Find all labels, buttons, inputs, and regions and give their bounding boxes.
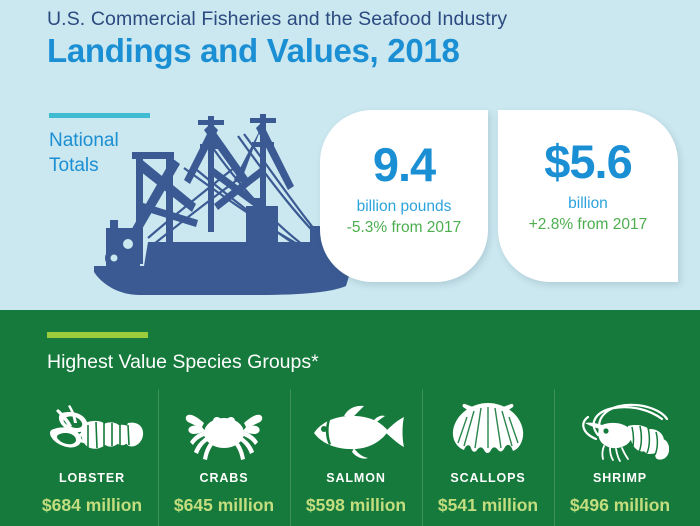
headline-block: U.S. Commercial Fisheries and the Seafoo…: [47, 8, 667, 70]
page-title: Landings and Values, 2018: [47, 32, 667, 70]
species-name-shrimp: SHRIMP: [593, 471, 647, 485]
species-name-scallops: SCALLOPS: [450, 471, 525, 485]
infographic-root: U.S. Commercial Fisheries and the Seafoo…: [0, 0, 700, 526]
stat-landings-unit: billion pounds: [320, 197, 488, 216]
national-totals-label-line2: Totals: [49, 153, 159, 178]
national-totals-label: National Totals: [49, 128, 159, 178]
stat-value-change: +2.8% from 2017: [498, 215, 678, 234]
stat-card-value: $5.6 billion +2.8% from 2017: [498, 110, 678, 282]
lime-rule-divider: [47, 332, 148, 338]
stat-value-amount: $5.6: [498, 138, 678, 185]
species-value-scallops: $541 million: [438, 495, 538, 516]
species-value-shrimp: $496 million: [570, 495, 670, 516]
stat-landings-value: 9.4: [320, 141, 488, 188]
species-list: LOBSTER $684 million: [26, 395, 686, 526]
species-value-salmon: $598 million: [306, 495, 406, 516]
salmon-icon: [302, 399, 410, 465]
shrimp-icon: [566, 399, 674, 465]
species-item-salmon: SALMON $598 million: [290, 395, 422, 526]
stat-cards: 9.4 billion pounds -5.3% from 2017 $5.6 …: [320, 110, 678, 282]
national-totals-label-line1: National: [49, 128, 159, 153]
teal-rule-divider: [49, 113, 150, 118]
stat-value-unit: billion: [498, 194, 678, 213]
lobster-icon: [38, 399, 146, 465]
species-item-shrimp: SHRIMP $496 million: [554, 395, 686, 526]
species-section-heading: Highest Value Species Groups*: [47, 351, 319, 374]
scallop-icon: [434, 399, 542, 465]
species-item-crabs: CRABS $645 million: [158, 395, 290, 526]
highest-value-species-section: Highest Value Species Groups*: [0, 310, 700, 526]
species-name-salmon: SALMON: [326, 471, 386, 485]
species-value-crabs: $645 million: [174, 495, 274, 516]
national-totals-label-block: National Totals: [49, 113, 159, 178]
species-name-lobster: LOBSTER: [59, 471, 125, 485]
species-item-scallops: SCALLOPS $541 million: [422, 395, 554, 526]
stat-card-landings: 9.4 billion pounds -5.3% from 2017: [320, 110, 488, 282]
species-item-lobster: LOBSTER $684 million: [26, 395, 158, 526]
species-name-crabs: CRABS: [200, 471, 249, 485]
species-value-lobster: $684 million: [42, 495, 142, 516]
page-subtitle: U.S. Commercial Fisheries and the Seafoo…: [47, 8, 667, 30]
crab-icon: [170, 399, 278, 465]
national-totals-section: U.S. Commercial Fisheries and the Seafoo…: [0, 0, 700, 310]
stat-landings-change: -5.3% from 2017: [320, 218, 488, 237]
